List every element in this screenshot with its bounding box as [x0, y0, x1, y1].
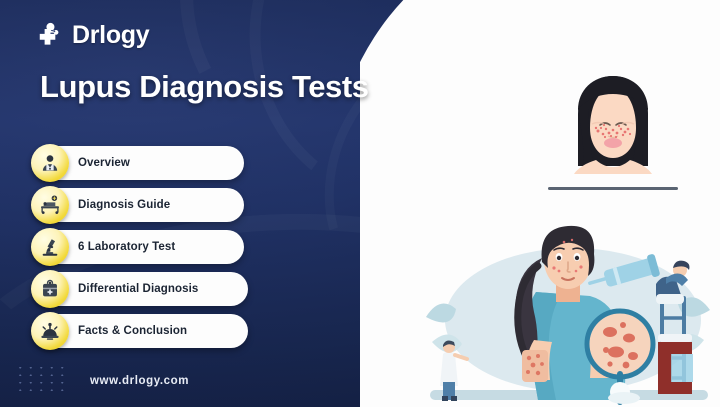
infographic-canvas: Drlogy Lupus Diagnosis Tests Overview [0, 0, 720, 407]
microscope-icon [31, 228, 69, 266]
page-title: Lupus Diagnosis Tests [40, 70, 470, 105]
alarm-bell-icon [31, 312, 69, 350]
menu-item-differential-diagnosis[interactable]: Differential Diagnosis [32, 272, 248, 306]
face-card-base-line [548, 187, 678, 190]
menu-item-facts-conclusion[interactable]: Facts & Conclusion [32, 314, 248, 348]
woman-face-butterfly-rash-illustration [548, 58, 678, 190]
menu-item-label: Differential Diagnosis [78, 283, 198, 295]
medical-cross-doctor-icon [33, 20, 63, 50]
hospital-bed-icon [31, 186, 69, 224]
footer-url: www.drlogy.com [90, 375, 189, 387]
menu-list: Overview Diagnosis Guide [32, 146, 248, 348]
brand-name: Drlogy [72, 21, 149, 50]
brand-logo[interactable]: Drlogy [33, 20, 149, 50]
doctor-person-icon [31, 144, 69, 182]
menu-item-laboratory-test[interactable]: 6 Laboratory Test [32, 230, 244, 264]
lupus-scene-illustration [418, 222, 720, 407]
menu-item-label: Facts & Conclusion [78, 325, 187, 337]
menu-item-label: Overview [78, 157, 130, 169]
menu-item-diagnosis-guide[interactable]: Diagnosis Guide [32, 188, 244, 222]
menu-item-label: 6 Laboratory Test [78, 241, 175, 253]
menu-item-label: Diagnosis Guide [78, 199, 170, 211]
dot-grid-decoration [15, 364, 67, 396]
menu-item-overview[interactable]: Overview [32, 146, 244, 180]
stethoscope-bag-icon [31, 270, 69, 308]
